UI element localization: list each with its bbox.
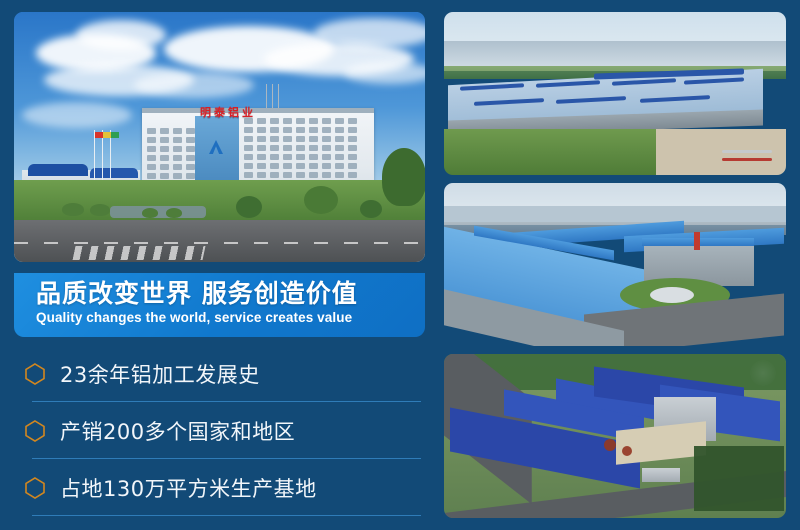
cloud-shape bbox=[76, 20, 166, 50]
highlights-list: 23余年铝加工发展史 产销200多个国家和地区 占地130万 bbox=[14, 345, 425, 516]
flagpole bbox=[94, 130, 95, 184]
right-column bbox=[444, 12, 786, 518]
window-grid bbox=[147, 128, 195, 179]
slogan-subline: Quality changes the world, service creat… bbox=[36, 310, 425, 325]
antenna-icon bbox=[266, 84, 267, 108]
cloud-shape bbox=[134, 72, 254, 98]
hexagon-icon bbox=[18, 420, 52, 442]
aerial-factory-photo[interactable] bbox=[444, 12, 786, 175]
list-item[interactable]: 23余年铝加工发展史 bbox=[14, 345, 425, 402]
shrub bbox=[62, 203, 84, 216]
industrial-park-rendering[interactable] bbox=[444, 354, 786, 518]
left-column: 明泰铝业 bbox=[14, 12, 425, 518]
tree bbox=[360, 200, 382, 218]
flag-icon bbox=[111, 132, 119, 138]
slogan-headline: 品质改变世界 服务创造价值 bbox=[36, 280, 425, 308]
antenna-icon bbox=[278, 84, 279, 108]
tree bbox=[236, 196, 262, 218]
promo-banner-page: 明泰铝业 bbox=[0, 0, 800, 530]
list-item[interactable]: 产销200多个国家和地区 bbox=[14, 402, 425, 459]
shrub bbox=[90, 204, 110, 216]
shrub bbox=[166, 208, 182, 218]
hexagon-icon bbox=[18, 363, 52, 385]
cloud-shape bbox=[22, 102, 132, 128]
list-item-label: 产销200多个国家和地区 bbox=[60, 416, 295, 446]
list-item-label: 23余年铝加工发展史 bbox=[60, 359, 260, 389]
shrub bbox=[142, 208, 158, 218]
hexagon-icon bbox=[18, 477, 52, 499]
list-item[interactable]: 占地130万平方米生产基地 bbox=[14, 459, 425, 516]
blue-roof bbox=[90, 168, 138, 178]
tree bbox=[382, 148, 425, 206]
road-marking bbox=[14, 242, 425, 244]
cloud-shape bbox=[344, 62, 425, 84]
divider bbox=[32, 515, 421, 516]
flag-icon bbox=[95, 132, 103, 138]
cloud-shape bbox=[314, 18, 425, 48]
blue-roof bbox=[28, 164, 88, 176]
tree bbox=[304, 186, 338, 214]
flagpole bbox=[110, 130, 111, 184]
aerial-plant-photo[interactable] bbox=[444, 183, 786, 346]
crosswalk-marking bbox=[73, 246, 206, 260]
slogan-banner: 品质改变世界 服务创造价值 Quality changes the world,… bbox=[14, 273, 425, 337]
water-feature bbox=[110, 206, 206, 218]
roof-line bbox=[142, 108, 374, 113]
flag-icon bbox=[103, 132, 111, 138]
hero-office-photo[interactable]: 明泰铝业 bbox=[14, 12, 425, 262]
list-item-label: 占地130万平方米生产基地 bbox=[60, 473, 317, 503]
antenna-icon bbox=[272, 84, 273, 108]
flagpole bbox=[102, 130, 103, 184]
